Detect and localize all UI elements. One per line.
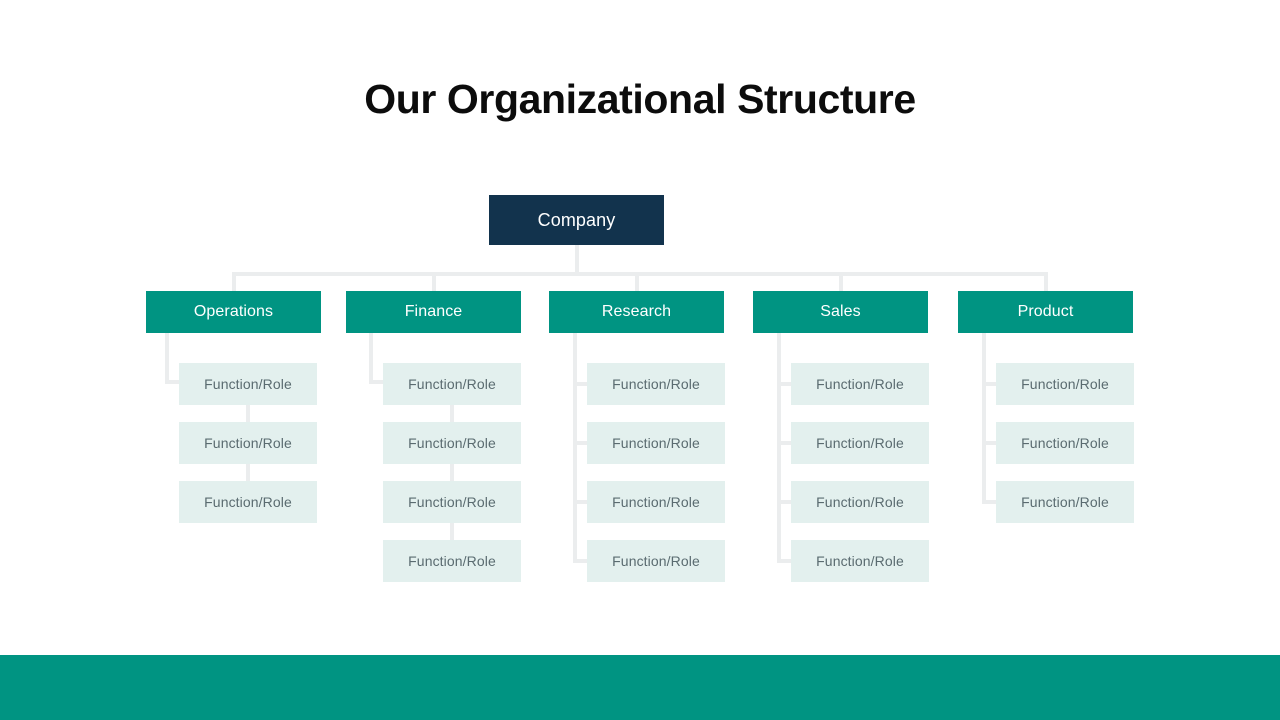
node-function-role-1-3-label: Function/Role	[204, 494, 292, 510]
connector-dept-spine-5	[982, 333, 986, 502]
connector-dept-spine-1	[165, 333, 169, 384]
connector-dept-drop-2	[432, 272, 436, 291]
node-function-role-5-2[interactable]: Function/Role	[996, 422, 1134, 464]
node-function-role-4-4-label: Function/Role	[816, 553, 904, 569]
connector-stub-4-4	[777, 559, 791, 563]
node-function-role-3-2-label: Function/Role	[612, 435, 700, 451]
slide-canvas: Our Organizational Structure CompanyOper…	[0, 0, 1280, 720]
node-department-3-label: Research	[602, 303, 671, 321]
connector-leaf-link-2-1	[450, 405, 454, 422]
node-function-role-3-1-label: Function/Role	[612, 376, 700, 392]
connector-stub-5-1	[982, 382, 996, 386]
node-function-role-4-3[interactable]: Function/Role	[791, 481, 929, 523]
node-department-1[interactable]: Operations	[146, 291, 321, 333]
node-function-role-5-1-label: Function/Role	[1021, 376, 1109, 392]
node-function-role-4-1-label: Function/Role	[816, 376, 904, 392]
connector-leaf-link-2-3	[450, 523, 454, 540]
node-function-role-4-2-label: Function/Role	[816, 435, 904, 451]
connector-dept-drop-5	[1044, 272, 1048, 291]
node-function-role-2-2[interactable]: Function/Role	[383, 422, 521, 464]
connector-dept-spine-4	[777, 333, 781, 561]
node-function-role-1-2-label: Function/Role	[204, 435, 292, 451]
node-function-role-1-3[interactable]: Function/Role	[179, 481, 317, 523]
node-function-role-5-3-label: Function/Role	[1021, 494, 1109, 510]
connector-leaf-link-1-2	[246, 464, 250, 481]
node-function-role-2-3[interactable]: Function/Role	[383, 481, 521, 523]
node-function-role-1-2[interactable]: Function/Role	[179, 422, 317, 464]
connector-stub-4-1	[777, 382, 791, 386]
connector-dept-spine-3	[573, 333, 577, 561]
connector-elbow-2	[369, 380, 383, 384]
node-function-role-1-1-label: Function/Role	[204, 376, 292, 392]
node-function-role-5-2-label: Function/Role	[1021, 435, 1109, 451]
node-department-4[interactable]: Sales	[753, 291, 928, 333]
node-department-4-label: Sales	[820, 303, 861, 321]
node-function-role-2-2-label: Function/Role	[408, 435, 496, 451]
connector-stub-3-3	[573, 500, 587, 504]
node-function-role-4-1[interactable]: Function/Role	[791, 363, 929, 405]
node-function-role-3-4[interactable]: Function/Role	[587, 540, 725, 582]
connector-dept-drop-1	[232, 272, 236, 291]
connector-stub-5-2	[982, 441, 996, 445]
connector-dept-drop-4	[839, 272, 843, 291]
connector-stub-5-3	[982, 500, 996, 504]
connector-dept-spine-2	[369, 333, 373, 384]
node-function-role-2-1-label: Function/Role	[408, 376, 496, 392]
connector-leaf-link-1-1	[246, 405, 250, 422]
node-function-role-3-3-label: Function/Role	[612, 494, 700, 510]
node-department-3[interactable]: Research	[549, 291, 724, 333]
node-department-2[interactable]: Finance	[346, 291, 521, 333]
node-department-2-label: Finance	[405, 303, 463, 321]
connector-distribution-bus	[232, 272, 1048, 276]
node-function-role-3-1[interactable]: Function/Role	[587, 363, 725, 405]
connector-dept-drop-3	[635, 272, 639, 291]
node-function-role-3-4-label: Function/Role	[612, 553, 700, 569]
node-function-role-4-2[interactable]: Function/Role	[791, 422, 929, 464]
node-function-role-4-4[interactable]: Function/Role	[791, 540, 929, 582]
connector-stub-3-4	[573, 559, 587, 563]
node-department-5[interactable]: Product	[958, 291, 1133, 333]
node-function-role-2-4[interactable]: Function/Role	[383, 540, 521, 582]
node-company-label: Company	[538, 210, 616, 231]
connector-stub-3-2	[573, 441, 587, 445]
node-function-role-3-3[interactable]: Function/Role	[587, 481, 725, 523]
connector-stub-4-2	[777, 441, 791, 445]
node-function-role-4-3-label: Function/Role	[816, 494, 904, 510]
node-function-role-1-1[interactable]: Function/Role	[179, 363, 317, 405]
node-department-5-label: Product	[1018, 303, 1074, 321]
node-function-role-2-3-label: Function/Role	[408, 494, 496, 510]
connector-stub-4-3	[777, 500, 791, 504]
org-chart: CompanyOperationsFunction/RoleFunction/R…	[0, 0, 1280, 655]
node-function-role-2-4-label: Function/Role	[408, 553, 496, 569]
node-function-role-5-3[interactable]: Function/Role	[996, 481, 1134, 523]
connector-leaf-link-2-2	[450, 464, 454, 481]
connector-stub-3-1	[573, 382, 587, 386]
footer-brand-band	[0, 655, 1280, 720]
node-department-1-label: Operations	[194, 303, 273, 321]
node-function-role-3-2[interactable]: Function/Role	[587, 422, 725, 464]
node-function-role-2-1[interactable]: Function/Role	[383, 363, 521, 405]
connector-elbow-1	[165, 380, 179, 384]
node-function-role-5-1[interactable]: Function/Role	[996, 363, 1134, 405]
node-company[interactable]: Company	[489, 195, 664, 245]
